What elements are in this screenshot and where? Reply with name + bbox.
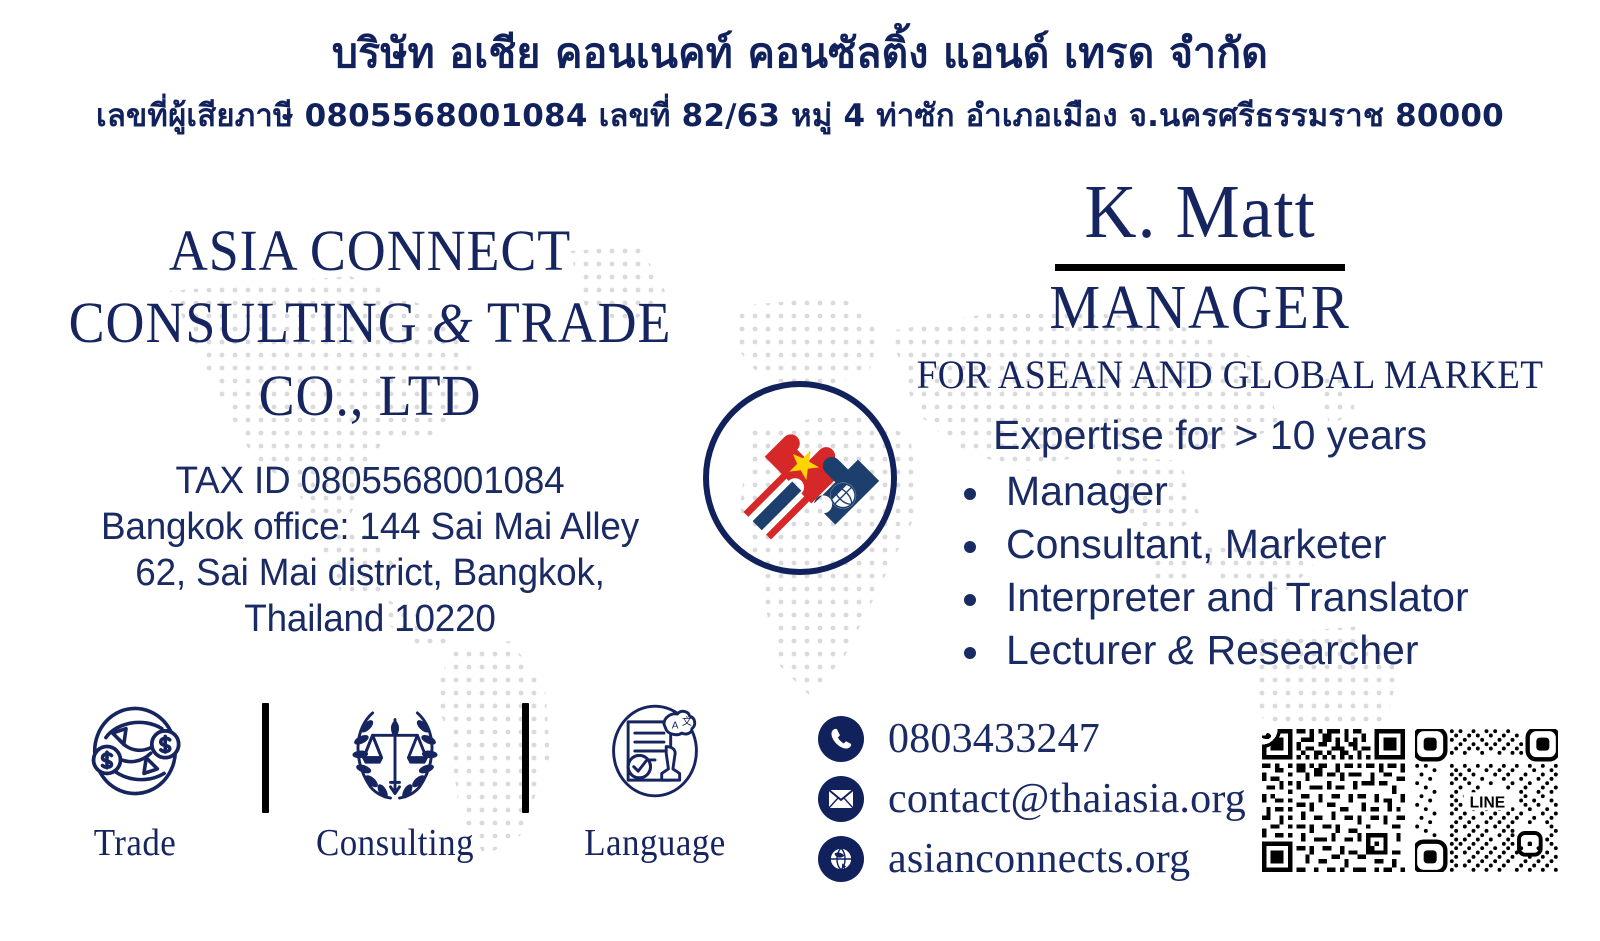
address-line-2: 62, Sai Mai district, Bangkok, xyxy=(50,550,690,596)
whatsapp-qr-code[interactable] xyxy=(1262,729,1405,872)
company-name-english: ASIA CONNECT CONSULTING & TRADE CO., LTD xyxy=(63,215,677,432)
company-name-line-1: ASIA CONNECT xyxy=(63,215,677,287)
list-item: Manager xyxy=(940,465,1580,518)
list-item: Consultant, Marketer xyxy=(940,518,1580,571)
services-divider-2 xyxy=(522,703,529,813)
address-line-1: Bangkok office: 144 Sai Mai Alley xyxy=(50,504,690,550)
list-item: Interpreter and Translator xyxy=(940,571,1580,624)
tax-id: TAX ID 0805568001084 xyxy=(50,458,690,504)
company-name-line-2-b: TRADE xyxy=(473,290,671,355)
market-scope: FOR ASEAN AND GLOBAL MARKET xyxy=(905,351,1556,399)
address-line-3: Thailand 10220 xyxy=(50,596,690,642)
email-icon xyxy=(818,776,864,822)
asia-connect-puzzle-logo xyxy=(700,378,900,578)
skills-list: Manager Consultant, Marketer Interpreter… xyxy=(880,465,1580,677)
service-consulting-label: Consulting xyxy=(312,821,478,865)
person-block: K. Matt MANAGER FOR ASEAN AND GLOBAL MAR… xyxy=(880,170,1580,677)
line-wordmark: LINE xyxy=(1470,794,1506,811)
person-identity: K. Matt MANAGER xyxy=(880,170,1520,343)
company-address-block: TAX ID 0805568001084 Bangkok office: 144… xyxy=(50,458,690,642)
tax-and-address-thai: เลขที่ผู้เสียภาษี 0805568001084 เลขที่ 8… xyxy=(0,96,1600,136)
globe-exchange-dollar-icon xyxy=(45,695,225,807)
company-name-thai: บริษัท อเชีย คอนเนคท์ คอนซัลติ้ง แอนด์ เ… xyxy=(0,28,1600,78)
scales-laurel-icon xyxy=(305,695,485,807)
service-trade: Trade xyxy=(45,695,225,865)
service-trade-label: Trade xyxy=(52,821,218,865)
company-block: ASIA CONNECT CONSULTING & TRADE CO., LTD… xyxy=(40,215,700,642)
service-language: A 文 Language xyxy=(565,695,745,865)
services-divider-1 xyxy=(262,703,269,813)
contact-email-value: contact@thaiasia.org xyxy=(888,776,1246,822)
ampersand-glyph: & xyxy=(1168,627,1195,673)
person-title: MANAGER xyxy=(906,273,1495,343)
svg-text:文: 文 xyxy=(682,715,692,728)
skill-text-b: Researcher xyxy=(1195,627,1418,673)
service-consulting: Consulting xyxy=(305,695,485,865)
svg-text:A: A xyxy=(672,721,679,732)
person-name: K. Matt xyxy=(896,170,1504,254)
line-qr-code[interactable]: LINE xyxy=(1415,729,1558,872)
experience-line: Expertise for > 10 years xyxy=(880,411,1540,459)
services-row: Trade xyxy=(45,695,745,895)
contact-phone-value: 0803433247 xyxy=(888,716,1100,762)
service-language-label: Language xyxy=(572,821,738,865)
ampersand-glyph: & xyxy=(432,293,473,355)
business-card: บริษัท อเชีย คอนเนคท์ คอนซัลติ้ง แอนด์ เ… xyxy=(0,0,1600,941)
contact-phone[interactable]: 0803433247 xyxy=(818,712,1338,766)
phone-icon xyxy=(818,716,864,762)
company-name-line-2: CONSULTING & TRADE xyxy=(63,287,677,360)
skill-text-a: Lecturer xyxy=(1006,627,1168,673)
contact-email[interactable]: contact@thaiasia.org xyxy=(818,772,1338,826)
company-name-line-3: CO., LTD xyxy=(63,360,677,432)
list-item: Lecturer & Researcher xyxy=(940,624,1580,677)
company-name-line-2-a: CONSULTING xyxy=(69,290,432,355)
contact-list: 0803433247 contact@thaiasia.org xyxy=(818,712,1338,892)
document-stamp-translate-icon: A 文 xyxy=(565,695,745,807)
contact-website-value: asianconnects.org xyxy=(888,836,1190,882)
name-divider-rule xyxy=(1055,264,1345,271)
contact-website[interactable]: asianconnects.org xyxy=(818,832,1338,886)
globe-website-icon xyxy=(818,836,864,882)
